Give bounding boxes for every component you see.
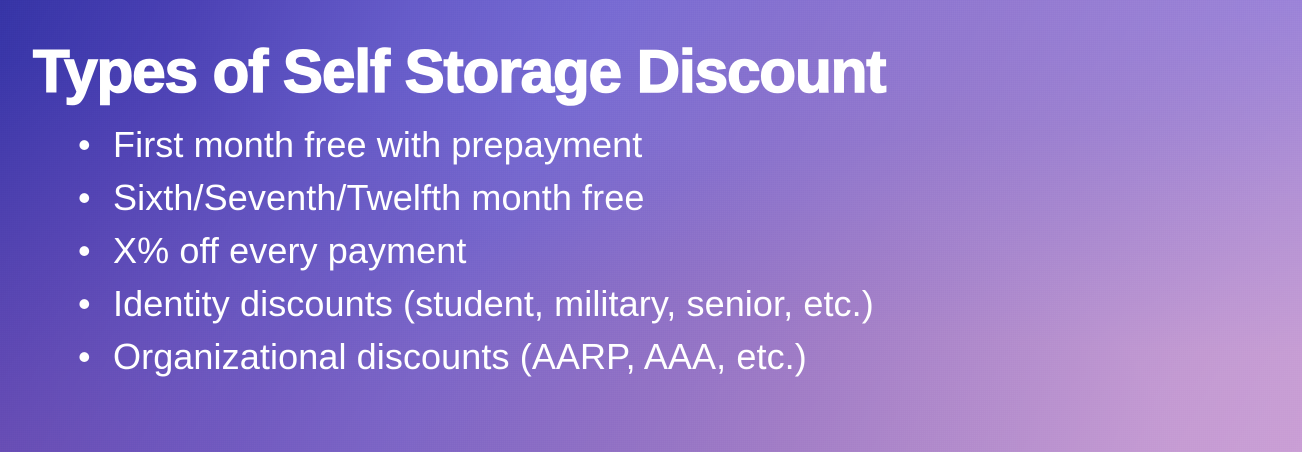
- list-item: • Sixth/Seventh/Twelfth month free: [78, 171, 874, 224]
- list-item: • Organizational discounts (AARP, AAA, e…: [78, 330, 874, 383]
- bullet-point-icon: •: [78, 224, 113, 277]
- bullet-point-icon: •: [78, 118, 113, 171]
- list-item-label: X% off every payment: [113, 224, 467, 277]
- list-item: • First month free with prepayment: [78, 118, 874, 171]
- list-item-label: Identity discounts (student, military, s…: [113, 277, 874, 330]
- list-item: • X% off every payment: [78, 224, 874, 277]
- bullet-list: • First month free with prepayment • Six…: [78, 118, 874, 383]
- bullet-point-icon: •: [78, 277, 113, 330]
- list-item-label: Sixth/Seventh/Twelfth month free: [113, 171, 644, 224]
- list-item-label: First month free with prepayment: [113, 118, 642, 171]
- list-item-label: Organizational discounts (AARP, AAA, etc…: [113, 330, 807, 383]
- bullet-point-icon: •: [78, 171, 113, 224]
- page-title: Types of Self Storage Discount: [33, 37, 885, 107]
- list-item: • Identity discounts (student, military,…: [78, 277, 874, 330]
- slide-canvas: Types of Self Storage Discount • First m…: [0, 0, 1302, 452]
- bullet-point-icon: •: [78, 330, 113, 383]
